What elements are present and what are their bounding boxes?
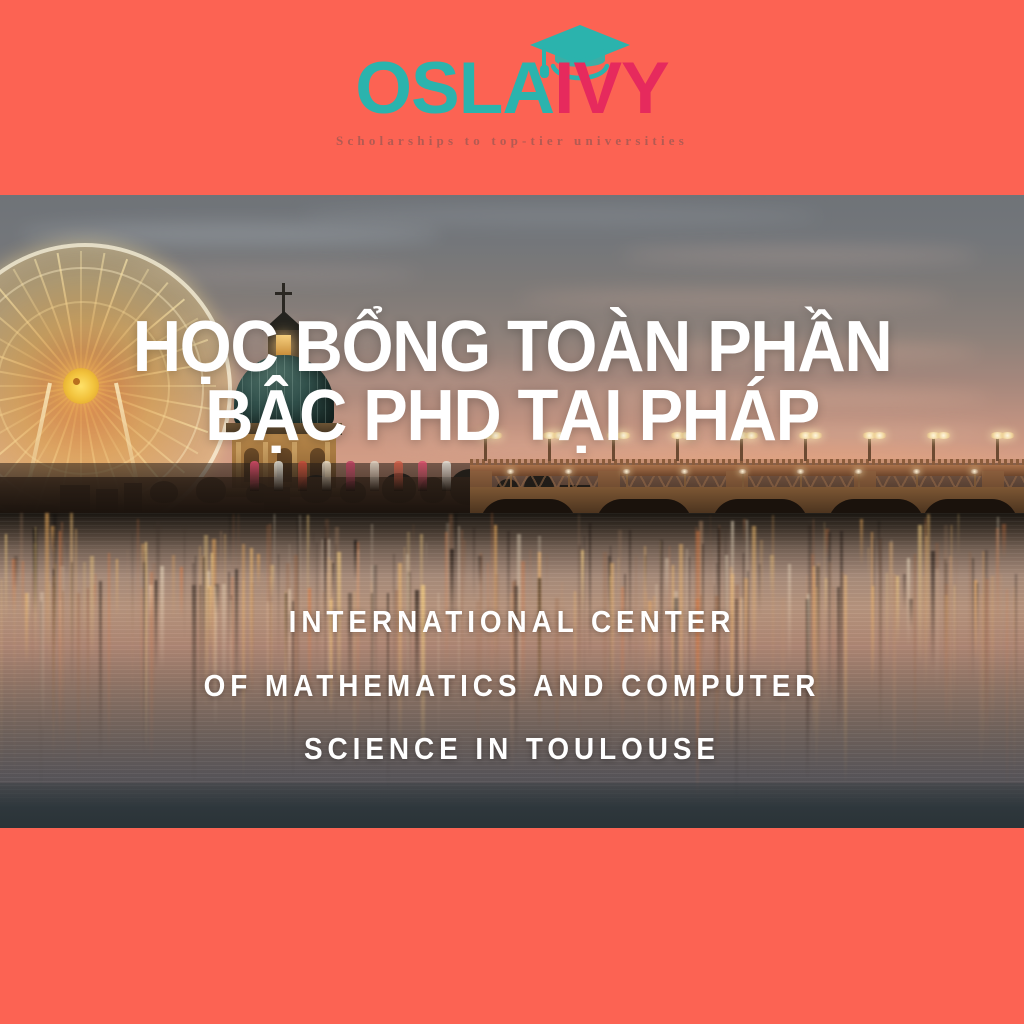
headline: HỌC BỔNG TOÀN PHẦN BẬC PHD TẠI PHÁP — [36, 313, 988, 451]
headline-line-2: BẬC PHD TẠI PHÁP — [36, 382, 988, 451]
subtitle-line-3: SCIENCE IN TOULOUSE — [51, 717, 973, 781]
logo-word-osla: OSLA — [355, 52, 554, 125]
logo-word-ivy: IVY — [554, 52, 669, 125]
subtitle-line-2: OF MATHEMATICS AND COMPUTER — [51, 654, 973, 718]
logo[interactable]: OSLAIVY Scholarships to top-tier univers… — [0, 0, 1024, 195]
cloud — [620, 247, 980, 263]
cloud — [300, 207, 820, 225]
logo-wordmark: OSLAIVY — [0, 52, 1024, 125]
footer-band — [0, 828, 1024, 1024]
hero-photo: HỌC BỔNG TOÀN PHẦN BẬC PHD TẠI PHÁP INTE… — [0, 195, 1024, 828]
subtitle-line-1: INTERNATIONAL CENTER — [51, 590, 973, 654]
headline-line-1: HỌC BỔNG TOÀN PHẦN — [36, 313, 988, 382]
logo-tagline: Scholarships to top-tier universities — [0, 133, 1024, 149]
poster: OSLAIVY Scholarships to top-tier univers… — [0, 0, 1024, 1024]
bridge-railing — [470, 459, 1024, 465]
header-band: OSLAIVY Scholarships to top-tier univers… — [0, 0, 1024, 195]
cloud — [520, 291, 950, 306]
foreground-shadow — [0, 783, 1024, 828]
subtitle: INTERNATIONAL CENTER OF MATHEMATICS AND … — [51, 590, 973, 781]
dome-cross-icon — [275, 292, 292, 295]
